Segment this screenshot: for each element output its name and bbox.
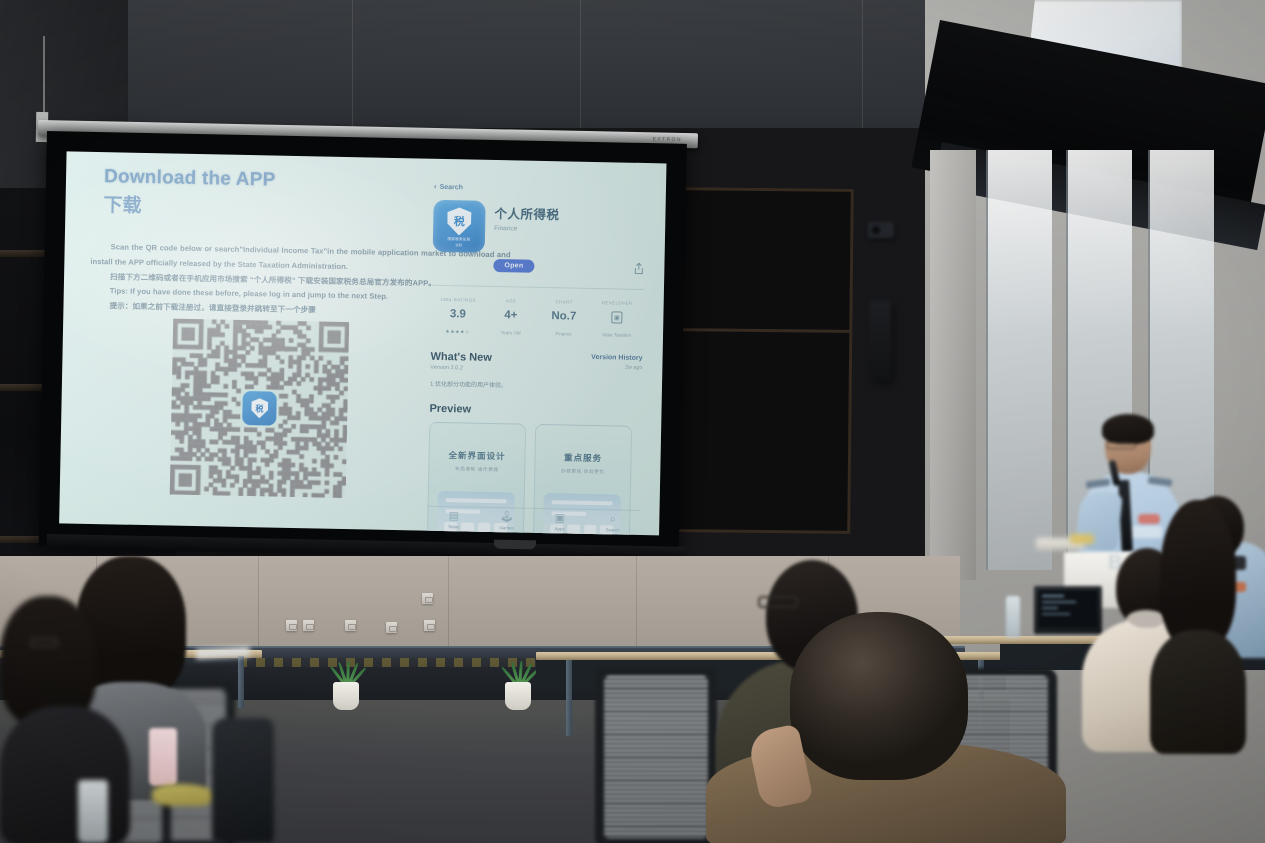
chevron-left-icon: ‹ [434,183,437,191]
wall-speaker [869,300,891,380]
wall-outlet-4[interactable] [386,622,397,633]
stat-chart-label: CHART [556,299,573,304]
apps-icon: ▣ [533,513,586,525]
app-action-row: Open [432,258,644,275]
games-icon: 🕹 [480,512,533,524]
stat-rating-value: 3.9 [431,308,484,321]
back-to-search-link[interactable]: ‹ Search [434,183,646,195]
stage-edge-strip [238,658,536,667]
preview-heading: Preview [429,403,641,419]
app-header: 税 国家税务总局 监制 个人所得税 Finance [433,200,646,256]
stat-age-sub: Years Old [500,330,520,335]
appstore-screenshot: ‹ Search 税 国家税务总局 监制 个人所得税 Finance Ope [427,183,646,531]
stat-developer-label: DEVELOPER [602,300,633,306]
potted-plant-left [322,664,370,710]
qr-center-logo: 税 [242,391,277,426]
preview-shot-2-headline: 重点服务 [535,451,630,465]
search-icon: ⌕ [586,514,639,526]
shield-icon: 税 [251,398,268,418]
wall-blackboard [670,187,854,534]
desk-object-yellow [1070,534,1094,544]
audience-member-long-hair-right [1150,500,1246,750]
screen-pull-handle[interactable] [494,540,536,550]
thermos-bottle-pink [149,728,177,786]
whats-new-version: Version 2.0.2 [430,365,491,372]
tab-apps-label: Apps [533,526,586,532]
tab-today-label: Today [427,524,480,530]
audience-member-foreground [706,612,1066,843]
slide-title-cn: 下载 [103,190,142,218]
preview-shot-1-subline: 布局清晰 操作便捷 [429,466,524,474]
stat-developer: DEVELOPER ▣ State Taxation [590,291,644,342]
backpack [212,718,274,843]
app-category: Finance [494,225,559,233]
wall-pillar [930,150,976,580]
eyeglasses [758,596,798,608]
chair-center-left[interactable] [604,676,708,838]
water-bottle-left [78,780,108,843]
whats-new-row: What's New Version 2.0.2 Version History… [430,351,642,375]
stat-chart-sub: Finance [555,331,571,336]
projector-screen: Download the APP 下载 Scan the QR code bel… [39,131,687,559]
screen-support-rod [43,36,45,122]
glass-partition-1 [988,150,1052,570]
photo-scene: EXTRON Download the APP 下载 Scan the QR c… [0,0,1265,843]
tab-games[interactable]: 🕹 Games [480,512,533,531]
stat-rating: 1854 RATINGS 3.9 ★★★★☆ [431,288,485,339]
app-name: 个人所得税 [494,203,559,223]
roller-brand-label: EXTRON [653,136,682,143]
today-icon: ▤ [427,511,480,523]
qr-code: 税 [170,319,349,498]
tab-apps[interactable]: ▣ Apps [533,513,586,532]
back-label: Search [440,183,463,190]
app-icon-caption-2: 监制 [455,242,462,247]
ceiling-acoustic-panels [0,0,925,128]
stat-chart-value: No.7 [537,310,590,323]
version-history-label: Version History [591,354,642,362]
stat-developer-sub: State Taxation [602,332,631,338]
plant-pot [505,682,531,710]
tab-today[interactable]: ▤ Today [427,511,480,530]
stat-age: AGE 4+ Years Old [484,289,538,340]
version-history-link[interactable]: Version History 2w ago [591,354,643,371]
appstore-tabbar: ▤ Today 🕹 Games ▣ Apps ⌕ Search [427,506,639,533]
tab-search[interactable]: ⌕ Search [586,514,639,533]
tab-games-label: Games [480,525,533,531]
version-history-ago: 2w ago [591,364,642,371]
slide-title-en: Download the APP [104,166,276,191]
app-stats-row: 1854 RATINGS 3.9 ★★★★☆ AGE 4+ Years Old … [431,285,644,342]
ceiling-camera-icon [868,222,894,238]
tab-search-label: Search [586,527,639,533]
potted-plant-right [494,664,542,710]
plant-pot [333,682,359,710]
wall-outlet-5[interactable] [424,620,435,631]
preview-shot-2-subline: 办税更快 体验更优 [535,468,630,476]
wall-outlet-1[interactable] [286,620,297,631]
share-icon[interactable] [633,262,644,275]
stat-age-value: 4+ [484,309,537,322]
stat-age-label: AGE [506,298,517,303]
audience-member-left-2 [0,596,130,843]
slide-canvas: Download the APP 下载 Scan the QR code bel… [59,151,666,535]
open-button[interactable]: Open [493,259,534,273]
whats-new-note: 1.优化部分功能的用户体验。 [430,379,642,392]
stat-chart: CHART No.7 Finance [537,290,591,341]
developer-badge-icon: ▣ [611,311,622,323]
wall-outlet-6[interactable] [422,593,433,604]
app-icon: 税 国家税务总局 监制 [433,200,486,253]
preview-shot-1-headline: 全新界面设计 [429,449,524,463]
stat-rating-label: 1854 RATINGS [440,297,476,303]
wall-outlet-2[interactable] [303,620,314,631]
whats-new-heading: What's New [430,351,492,364]
stat-rating-stars: ★★★★☆ [445,329,470,335]
snack-on-desk [152,784,214,806]
wall-outlet-3[interactable] [345,620,356,631]
shield-icon: 税 [447,207,472,235]
